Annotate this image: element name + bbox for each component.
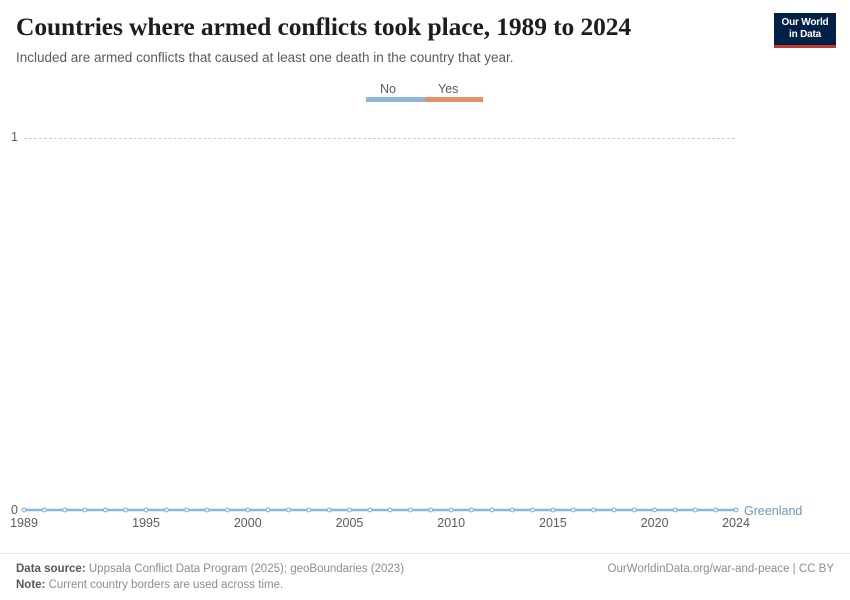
series-end-label-greenland[interactable]: Greenland — [744, 504, 802, 518]
data-point[interactable] — [266, 508, 270, 512]
note-label: Note: — [16, 579, 45, 591]
data-point[interactable] — [388, 508, 392, 512]
data-point[interactable] — [551, 508, 555, 512]
owid-logo-line-1: Our World — [779, 17, 831, 29]
x-axis-ticks: 19891995200020052010201520202024 — [0, 515, 850, 531]
data-point[interactable] — [327, 508, 331, 512]
x-axis-tick-2000: 2000 — [234, 515, 262, 531]
chart-subtitle: Included are armed conflicts that caused… — [16, 48, 756, 67]
data-point[interactable] — [246, 508, 250, 512]
data-point[interactable] — [63, 508, 67, 512]
gridline-y-1 — [24, 138, 735, 139]
data-point[interactable] — [449, 508, 453, 512]
data-point[interactable] — [571, 508, 575, 512]
data-point[interactable] — [673, 508, 677, 512]
data-point[interactable] — [83, 508, 87, 512]
data-point[interactable] — [185, 508, 189, 512]
data-point[interactable] — [470, 508, 474, 512]
legend-swatch-no[interactable] — [366, 97, 425, 102]
footer-sources: Data source: Uppsala Conflict Data Progr… — [16, 561, 404, 593]
data-point[interactable] — [531, 508, 535, 512]
owid-logo[interactable]: Our World in Data — [774, 13, 836, 48]
chart-legend: No Yes — [366, 82, 486, 97]
x-axis-tick-1989: 1989 — [10, 515, 38, 531]
data-source-text: Uppsala Conflict Data Program (2025); ge… — [89, 563, 404, 575]
data-point[interactable] — [612, 508, 616, 512]
data-point[interactable] — [409, 508, 413, 512]
note-line: Note: Current country borders are used a… — [16, 577, 404, 593]
data-point[interactable] — [124, 508, 128, 512]
data-point[interactable] — [632, 508, 636, 512]
data-point[interactable] — [490, 508, 494, 512]
data-point[interactable] — [653, 508, 657, 512]
legend-labels: No Yes — [366, 82, 486, 97]
x-axis-tick-2010: 2010 — [437, 515, 465, 531]
x-axis-tick-2015: 2015 — [539, 515, 567, 531]
owid-logo-line-2: in Data — [779, 29, 831, 41]
attribution-link[interactable]: OurWorldinData.org/war-and-peace | CC BY — [608, 561, 834, 577]
data-point[interactable] — [205, 508, 209, 512]
data-point[interactable] — [714, 508, 718, 512]
legend-swatch-yes[interactable] — [425, 97, 483, 102]
data-point[interactable] — [226, 508, 230, 512]
data-source-line: Data source: Uppsala Conflict Data Progr… — [16, 561, 404, 577]
data-point[interactable] — [368, 508, 372, 512]
data-point[interactable] — [287, 508, 291, 512]
data-point[interactable] — [103, 508, 107, 512]
data-point[interactable] — [307, 508, 311, 512]
y-axis-tick-0: 0 — [2, 504, 18, 517]
data-source-label: Data source: — [16, 563, 86, 575]
data-point[interactable] — [734, 508, 738, 512]
series-layer — [0, 0, 850, 540]
x-axis-tick-2020: 2020 — [641, 515, 669, 531]
chart-header: Countries where armed conflicts took pla… — [16, 12, 756, 67]
legend-color-bars — [366, 97, 483, 102]
chart-footer: Data source: Uppsala Conflict Data Progr… — [0, 553, 850, 600]
y-axis-tick-1: 1 — [2, 131, 18, 144]
owid-chart: Countries where armed conflicts took pla… — [0, 0, 850, 600]
page-title: Countries where armed conflicts took pla… — [16, 12, 756, 42]
legend-label-no[interactable]: No — [380, 82, 396, 97]
data-point[interactable] — [348, 508, 352, 512]
legend-label-yes[interactable]: Yes — [438, 82, 458, 97]
data-point[interactable] — [165, 508, 169, 512]
x-axis-line — [24, 510, 736, 511]
x-axis-tick-1995: 1995 — [132, 515, 160, 531]
data-point[interactable] — [42, 508, 46, 512]
data-point[interactable] — [144, 508, 148, 512]
x-axis-tick-2005: 2005 — [336, 515, 364, 531]
data-point[interactable] — [510, 508, 514, 512]
data-point[interactable] — [592, 508, 596, 512]
plot-area: 1 0 19891995200020052010201520202024 — [0, 0, 850, 540]
data-point[interactable] — [429, 508, 433, 512]
data-point[interactable] — [22, 508, 26, 512]
note-text: Current country borders are used across … — [49, 579, 284, 591]
data-point[interactable] — [693, 508, 697, 512]
